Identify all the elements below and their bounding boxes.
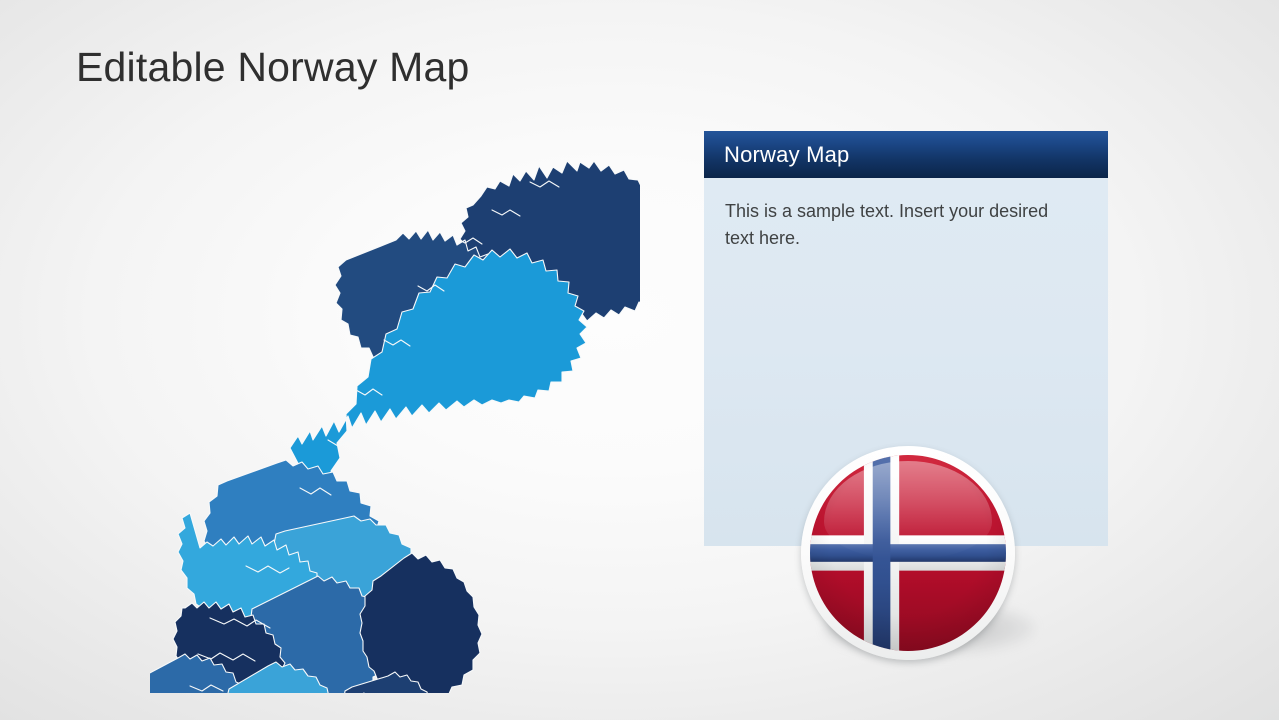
info-panel-text[interactable]: This is a sample text. Insert your desir… (725, 198, 1055, 252)
info-panel-header: Norway Map (704, 131, 1108, 178)
info-panel-title: Norway Map (724, 142, 849, 168)
norway-flag-badge[interactable] (795, 440, 1025, 670)
badge-ring[interactable] (801, 446, 1015, 660)
slide-canvas: Editable Norway Map (0, 0, 1279, 720)
page-title: Editable Norway Map (76, 40, 469, 94)
flag-icon (810, 455, 1006, 651)
norway-regions-map[interactable] (150, 118, 640, 693)
